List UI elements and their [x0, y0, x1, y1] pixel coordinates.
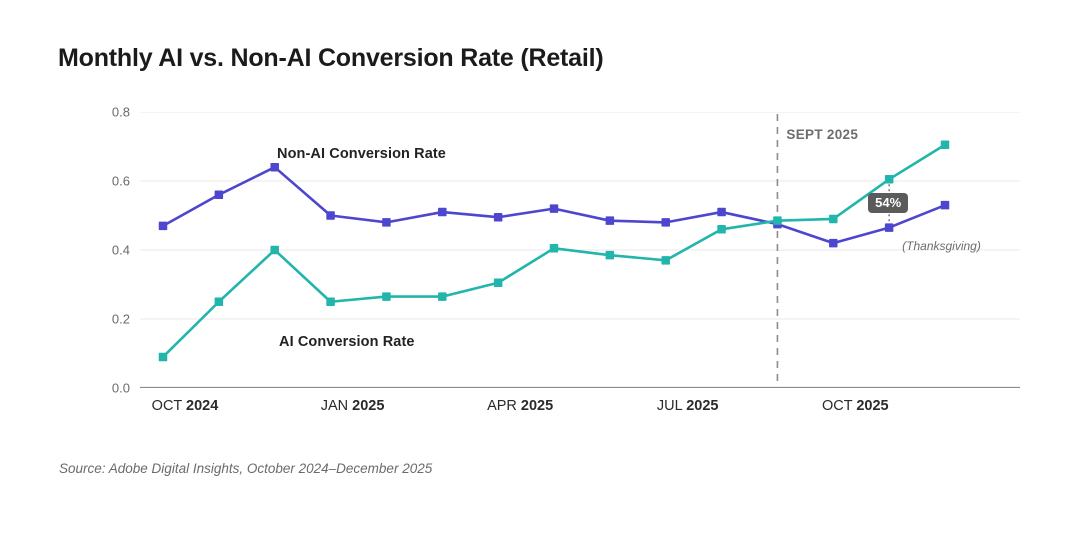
delta-badge: 54%: [868, 193, 908, 213]
data-point-marker: [494, 213, 503, 222]
x-tick-label: JAN 2025: [321, 398, 385, 414]
data-point-marker: [215, 191, 224, 200]
data-point-marker: [717, 225, 726, 234]
data-point-marker: [382, 292, 391, 301]
x-tick-label: APR 2025: [487, 398, 553, 414]
data-point-marker: [326, 211, 335, 220]
x-tick-label: OCT 2024: [152, 398, 219, 414]
data-point-marker: [438, 208, 447, 217]
data-point-marker: [494, 279, 503, 288]
data-point-marker: [606, 216, 615, 225]
thanksgiving-note: (Thanksgiving): [902, 239, 981, 253]
x-axis-ticks: OCT 2024JAN 2025APR 2025JUL 2025OCT 2025: [140, 398, 1020, 424]
data-point-marker: [661, 256, 670, 265]
x-tick-label: OCT 2025: [822, 398, 889, 414]
data-point-marker: [326, 298, 335, 307]
y-tick-label: 0.8: [90, 105, 130, 120]
y-tick-label: 0.4: [90, 243, 130, 258]
source-note: Source: Adobe Digital Insights, October …: [59, 461, 432, 476]
page-title: Monthly AI vs. Non-AI Conversion Rate (R…: [58, 44, 603, 73]
y-tick-label: 0.6: [90, 174, 130, 189]
data-point-marker: [829, 239, 838, 248]
data-point-marker: [661, 218, 670, 227]
chart-canvas: [140, 112, 1020, 388]
data-point-marker: [550, 204, 559, 213]
plot-area: [140, 112, 1020, 388]
data-point-marker: [885, 175, 894, 184]
data-point-marker: [717, 208, 726, 217]
series-label-non-ai: Non-AI Conversion Rate: [277, 146, 446, 162]
y-tick-label: 0.0: [90, 381, 130, 396]
data-point-marker: [438, 292, 447, 301]
data-point-marker: [159, 222, 168, 231]
series-label-ai: AI Conversion Rate: [279, 334, 415, 350]
data-point-marker: [941, 141, 950, 150]
y-tick-label: 0.2: [90, 312, 130, 327]
x-tick-label: JUL 2025: [657, 398, 719, 414]
data-point-marker: [829, 215, 838, 224]
data-point-marker: [270, 246, 279, 255]
data-point-marker: [382, 218, 391, 227]
data-point-marker: [159, 353, 168, 362]
data-point-marker: [215, 298, 224, 307]
data-point-marker: [270, 163, 279, 172]
data-point-marker: [606, 251, 615, 259]
data-point-marker: [773, 216, 782, 225]
data-point-marker: [885, 223, 894, 232]
data-point-marker: [550, 244, 559, 253]
y-axis-ticks: 0.00.20.40.60.8: [100, 112, 130, 388]
event-marker-label: SEPT 2025: [786, 127, 858, 142]
chart-page: Monthly AI vs. Non-AI Conversion Rate (R…: [0, 0, 1080, 540]
data-point-marker: [941, 201, 950, 210]
